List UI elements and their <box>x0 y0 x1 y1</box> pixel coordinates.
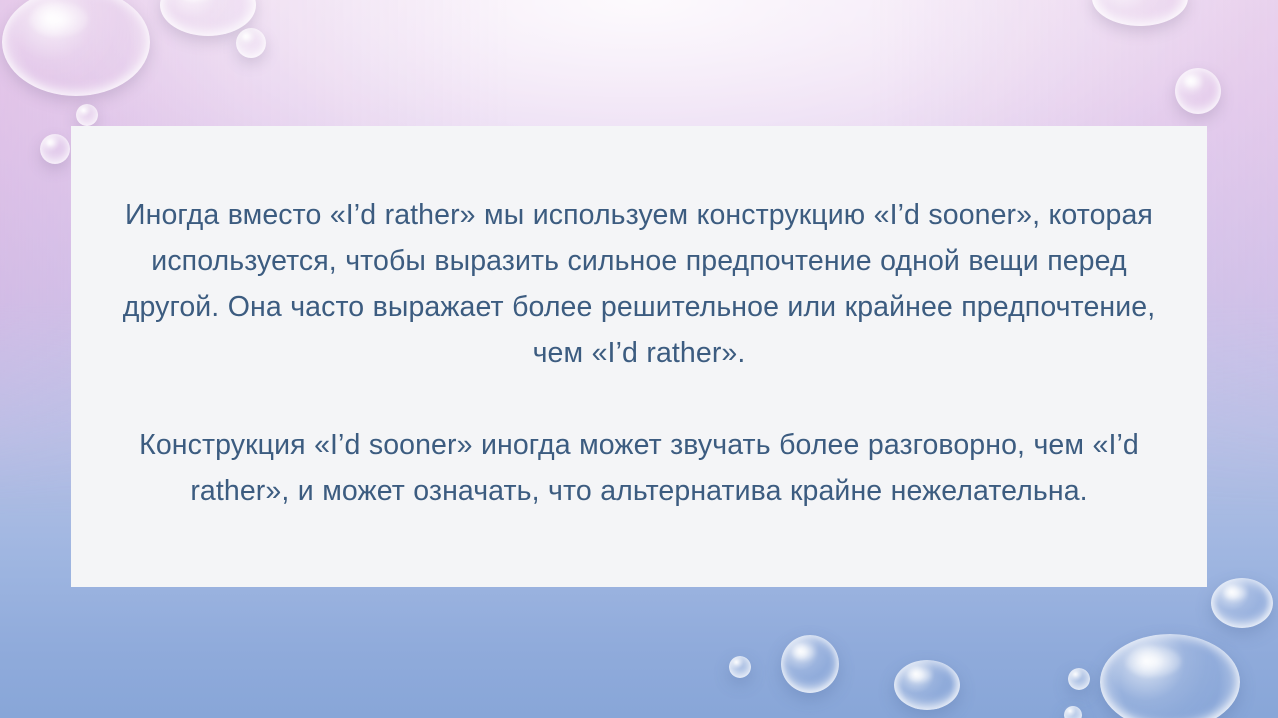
paragraph-1: Иногда вместо «I’d rather» мы используем… <box>105 192 1173 376</box>
paragraph-2: Конструкция «I’d sooner» иногда может зв… <box>105 422 1173 514</box>
slide-content-panel: Иногда вместо «I’d rather» мы используем… <box>71 126 1207 587</box>
presentation-slide: Иногда вместо «I’d rather» мы используем… <box>0 0 1278 718</box>
